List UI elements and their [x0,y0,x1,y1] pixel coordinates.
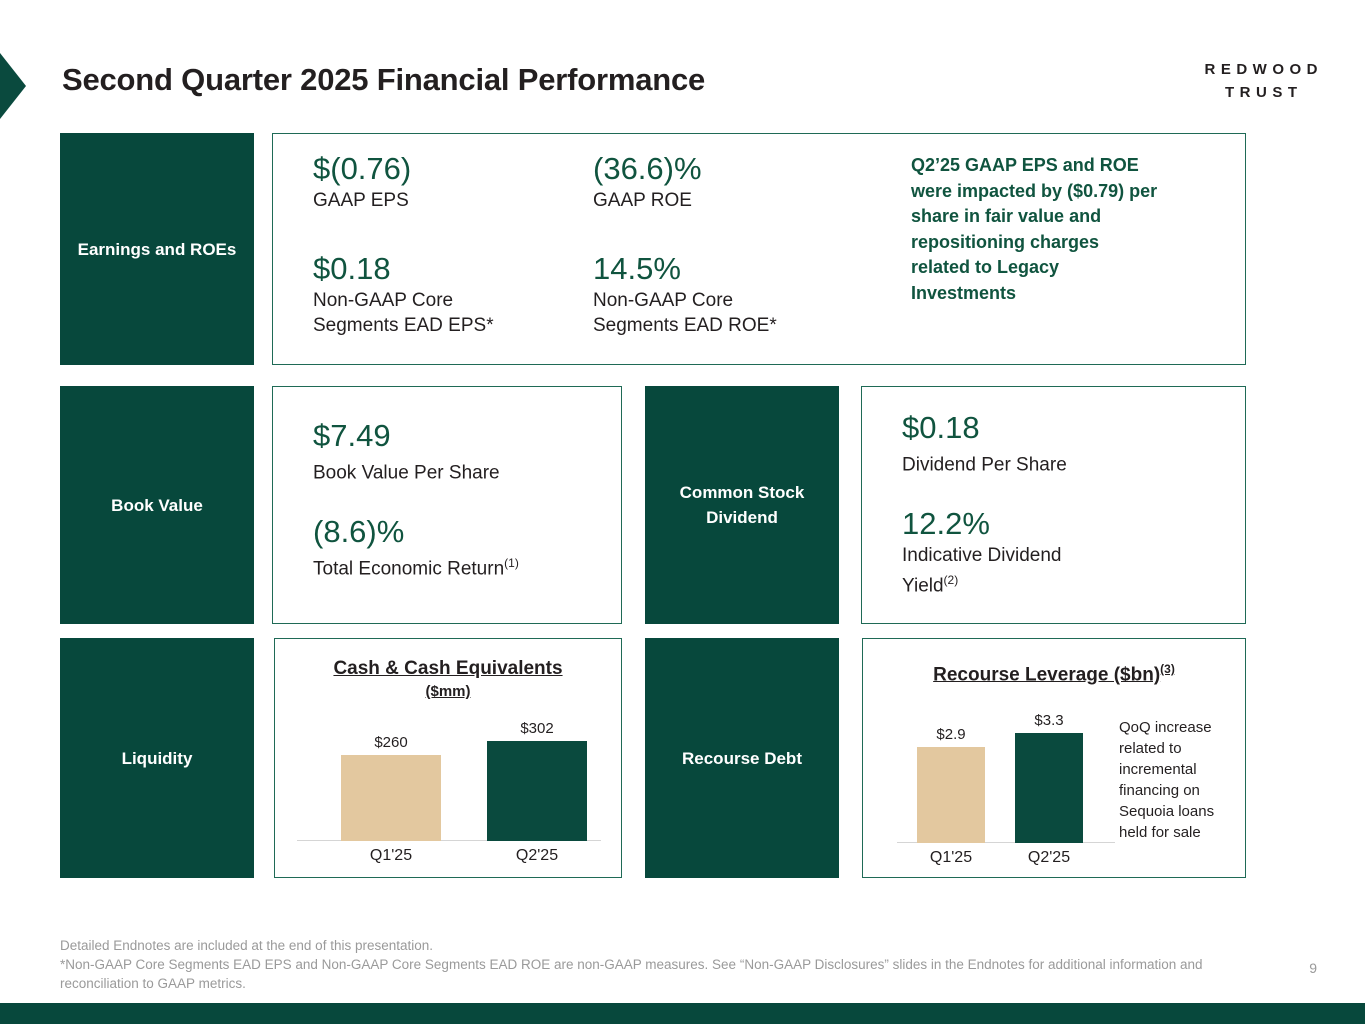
metric-gaap-roe: (36.6)% GAAP ROE [593,150,702,213]
cash-chart-title-text: Cash & Cash Equivalents [333,658,562,679]
footnote-line-2: *Non-GAAP Core Segments EAD EPS and Non-… [60,955,1250,993]
metric-gaap-roe-value: (36.6)% [593,150,702,188]
section-label-earnings-text: Earnings and ROEs [78,237,237,262]
section-label-common-stock-dividend: Common Stock Dividend [645,386,839,624]
leverage-chart-bar-value-q1: $2.9 [917,726,985,743]
cash-chart-bar-q1 [341,755,441,841]
leverage-chart-title-sup: (3) [1160,662,1175,676]
metric-core-ead-eps-value: $0.18 [313,250,553,288]
left-arrow-accent [0,53,26,119]
section-label-liquidity-text: Liquidity [122,746,193,771]
metric-dividend-per-share-value: $0.18 [902,409,1067,447]
metric-gaap-eps: $(0.76) GAAP EPS [313,150,411,213]
metric-indicative-dividend-yield-label-text: Indicative Dividend Yield [902,545,1061,596]
page-number: 9 [1309,960,1317,976]
metric-book-value-per-share: $7.49 Book Value Per Share [313,417,500,485]
footnote-line-1: Detailed Endnotes are included at the en… [60,936,1250,955]
cash-chart-category-q2: Q2'25 [487,847,587,865]
cash-chart-category-q1: Q1'25 [341,847,441,865]
leverage-chart-bar-value-q2: $3.3 [1015,712,1083,729]
metric-total-economic-return-label: Total Economic Return(1) [313,551,519,581]
metric-core-ead-eps-label: Non-GAAP Core Segments EAD EPS* [313,288,533,338]
metric-dividend-per-share-label: Dividend Per Share [902,447,1067,477]
leverage-chart-annotation: QoQ increase related to incremental fina… [1119,717,1234,843]
section-label-recourse-debt-text: Recourse Debt [682,746,802,771]
cash-chart-bar-value-q2: $302 [487,720,587,737]
leverage-chart-category-q1: Q1'25 [917,849,985,867]
earnings-callout: Q2’25 GAAP EPS and ROE were impacted by … [911,153,1161,306]
bottom-accent-bar [0,1003,1365,1024]
metric-core-ead-eps: $0.18 Non-GAAP Core Segments EAD EPS* [313,250,553,338]
section-label-common-stock-dividend-text: Common Stock Dividend [645,480,839,530]
metric-indicative-dividend-yield-sup: (2) [944,573,959,587]
metric-indicative-dividend-yield: 12.2% Indicative Dividend Yield(2) [902,505,1132,598]
leverage-chart-plot-area: $2.9 $3.3 [897,713,1115,843]
metric-gaap-roe-label: GAAP ROE [593,188,702,213]
logo-line-2: TRUST [1205,81,1324,104]
leverage-chart-box: Recourse Leverage ($bn)(3) $2.9 $3.3 Q1'… [862,638,1246,878]
footnotes: Detailed Endnotes are included at the en… [60,936,1250,993]
cash-chart-bar-value-q1: $260 [341,734,441,751]
cash-chart-bar-q2 [487,741,587,841]
metric-dividend-per-share-label-text: Dividend Per Share [902,454,1067,475]
leverage-chart-bar-q1 [917,747,985,843]
leverage-chart-title-text: Recourse Leverage ($bn) [933,664,1160,685]
earnings-content-box: $(0.76) GAAP EPS (36.6)% GAAP ROE $0.18 … [272,133,1246,365]
metric-indicative-dividend-yield-label: Indicative Dividend Yield(2) [902,543,1102,598]
metric-book-value-per-share-value: $7.49 [313,417,500,455]
cash-chart-title: Cash & Cash Equivalents [275,657,621,681]
cash-chart-subtitle: ($mm) [275,683,621,700]
metric-total-economic-return-sup: (1) [504,556,519,570]
cash-chart-box: Cash & Cash Equivalents ($mm) $260 $302 … [274,638,622,878]
logo-line-1: REDWOOD [1205,58,1324,81]
leverage-chart-bar-q2 [1015,733,1083,843]
metric-total-economic-return-label-text: Total Economic Return [313,558,504,579]
section-label-earnings-and-roes: Earnings and ROEs [60,133,254,365]
leverage-chart-category-q2: Q2'25 [1015,849,1083,867]
metric-gaap-eps-label: GAAP EPS [313,188,411,213]
cash-chart-plot-area: $260 $302 [297,711,601,841]
book-value-content-box: $7.49 Book Value Per Share (8.6)% Total … [272,386,622,624]
section-label-liquidity: Liquidity [60,638,254,878]
section-label-book-value-text: Book Value [111,493,203,518]
page-title: Second Quarter 2025 Financial Performanc… [62,62,705,98]
metric-book-value-per-share-label-text: Book Value Per Share [313,462,500,483]
section-label-recourse-debt: Recourse Debt [645,638,839,878]
metric-dividend-per-share: $0.18 Dividend Per Share [902,409,1067,477]
metric-indicative-dividend-yield-value: 12.2% [902,505,1132,543]
redwood-trust-logo: REDWOOD TRUST [1205,58,1324,104]
metric-gaap-eps-value: $(0.76) [313,150,411,188]
metric-book-value-per-share-label: Book Value Per Share [313,455,500,485]
metric-core-ead-roe-value: 14.5% [593,250,833,288]
section-label-book-value: Book Value [60,386,254,624]
dividend-content-box: $0.18 Dividend Per Share 12.2% Indicativ… [861,386,1246,624]
metric-core-ead-roe-label: Non-GAAP Core Segments EAD ROE* [593,288,813,338]
leverage-chart-title: Recourse Leverage ($bn)(3) [863,657,1245,687]
metric-core-ead-roe: 14.5% Non-GAAP Core Segments EAD ROE* [593,250,833,338]
metric-total-economic-return-value: (8.6)% [313,513,519,551]
metric-total-economic-return: (8.6)% Total Economic Return(1) [313,513,519,581]
cash-chart-subtitle-text: ($mm) [425,683,470,700]
